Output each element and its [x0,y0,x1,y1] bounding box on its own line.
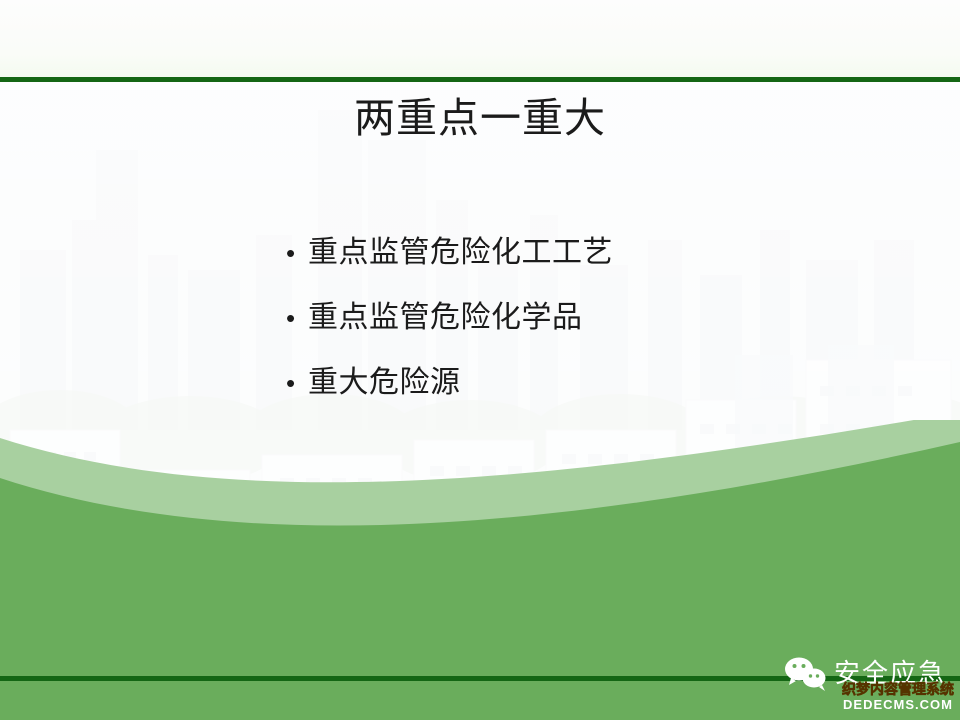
top-white-band [0,0,960,77]
list-item: • 重大危险源 [286,363,886,428]
bullet-dot-icon: • [286,363,308,403]
bullet-dot-icon: • [286,233,308,273]
bullet-text: 重大危险源 [308,363,461,403]
list-item: • 重点监管危险化工工艺 [286,233,886,298]
wechat-icon [782,654,830,692]
top-divider-rule [0,77,960,82]
list-item: • 重点监管危险化学品 [286,298,886,363]
bullet-dot-icon: • [286,298,308,338]
watermark-english-text: DEDECMS.COM [836,698,960,712]
bullet-text: 重点监管危险化工工艺 [308,233,613,273]
bullet-list: • 重点监管危险化工工艺 • 重点监管危险化学品 • 重大危险源 [286,233,886,428]
bullet-text: 重点监管危险化学品 [308,298,583,338]
dedecms-watermark: 织梦内容管理系统 DEDECMS.COM [836,682,960,711]
slide-title: 两重点一重大 [0,96,960,142]
watermark-chinese-text: 织梦内容管理系统 [836,682,960,697]
slide-canvas: 两重点一重大 • 重点监管危险化工工艺 • 重点监管危险化学品 • 重大危险源 [0,0,960,720]
